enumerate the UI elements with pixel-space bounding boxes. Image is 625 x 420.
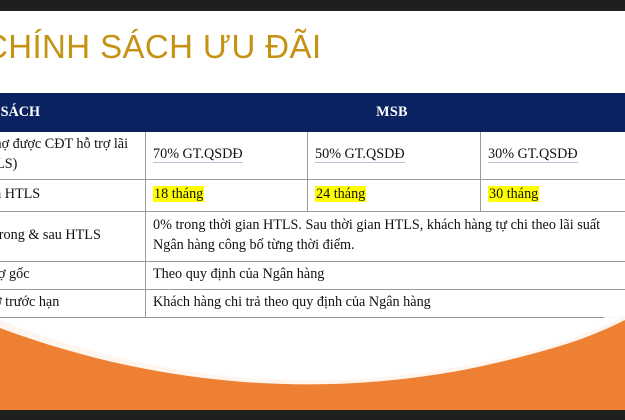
row-label-text: Ân hạn nợ gốc: [0, 262, 145, 289]
cell-value-text-highlighted: 30 tháng: [488, 186, 539, 202]
row-value-htls-duration-1: 18 tháng: [146, 180, 308, 212]
table-row: Phí trả nợ trước hạn Khách hàng chi trả …: [0, 290, 625, 318]
cell-value-text: Theo quy định của Ngân hàng: [146, 262, 625, 289]
table-row: Ân hạn nợ gốc Theo quy định của Ngân hàn…: [0, 262, 625, 290]
row-value-grace-period: Theo quy định của Ngân hàng: [146, 262, 625, 290]
row-label-text: Thời gian HTLS: [0, 182, 145, 209]
table-row: Mức dư nợ được CĐT hỗ trợ lãi suất (HTLS…: [0, 132, 625, 180]
header-bank-label: MSB: [146, 103, 625, 123]
row-value-interest-rate: 0% trong thời gian HTLS. Sau thời gian H…: [146, 212, 625, 262]
cell-value-text: Khách hàng chi trả theo quy định của Ngâ…: [146, 290, 625, 317]
presentation-slide: CHÍNH SÁCH ƯU ĐÃI CHÍNH SÁCH MSB: [0, 11, 625, 410]
swoosh-highlight-stripe: [0, 308, 625, 386]
row-value-debt-ratio-1: 70% GT.QSDĐ: [146, 132, 308, 180]
row-label-text: Phí trả nợ trước hạn: [0, 290, 145, 317]
policy-comparison-table: CHÍNH SÁCH MSB Mức dư nợ được CĐT hỗ trợ…: [0, 93, 625, 318]
slide-stage: CHÍNH SÁCH ƯU ĐÃI CHÍNH SÁCH MSB: [0, 0, 625, 420]
header-cell-bank: MSB: [146, 94, 625, 132]
header-cell-policy: CHÍNH SÁCH: [0, 94, 146, 132]
row-label-prepayment-fee: Phí trả nợ trước hạn: [0, 290, 146, 318]
row-value-debt-ratio-2: 50% GT.QSDĐ: [308, 132, 481, 180]
cell-value-text: 0% trong thời gian HTLS. Sau thời gian H…: [146, 213, 625, 259]
page-title: CHÍNH SÁCH ƯU ĐÃI: [0, 29, 624, 65]
row-label-interest-rate: Lãi suất trong & sau HTLS: [0, 212, 146, 262]
row-value-debt-ratio-3: 30% GT.QSDĐ: [481, 132, 625, 180]
row-label-text: Lãi suất trong & sau HTLS: [0, 223, 145, 250]
cell-value-text: 30% GT.QSDĐ: [488, 146, 578, 163]
letterbox-bottom: [0, 410, 625, 420]
row-label-htls-duration: Thời gian HTLS: [0, 180, 146, 212]
swoosh-main-shape: [0, 316, 625, 410]
header-policy-label: CHÍNH SÁCH: [0, 103, 145, 123]
row-label-grace-period: Ân hạn nợ gốc: [0, 262, 146, 290]
row-value-htls-duration-2: 24 tháng: [308, 180, 481, 212]
table-header-row: CHÍNH SÁCH MSB: [0, 94, 625, 132]
cell-value-text: 50% GT.QSDĐ: [315, 146, 405, 163]
row-value-htls-duration-3: 30 tháng: [481, 180, 625, 212]
swoosh-lower-shape: [0, 320, 625, 410]
row-value-prepayment-fee: Khách hàng chi trả theo quy định của Ngâ…: [146, 290, 625, 318]
table-row: Lãi suất trong & sau HTLS 0% trong thời …: [0, 212, 625, 262]
row-label-text: Mức dư nợ được CĐT hỗ trợ lãi suất (HTLS…: [0, 132, 145, 178]
cell-value-text: 70% GT.QSDĐ: [153, 146, 243, 163]
row-label-debt-ratio: Mức dư nợ được CĐT hỗ trợ lãi suất (HTLS…: [0, 132, 146, 180]
cell-value-text-highlighted: 24 tháng: [315, 186, 366, 202]
letterbox-top: [0, 0, 625, 11]
table-row: Thời gian HTLS 18 tháng 24 tháng 30 thán…: [0, 180, 625, 212]
cell-value-text-highlighted: 18 tháng: [153, 186, 204, 202]
